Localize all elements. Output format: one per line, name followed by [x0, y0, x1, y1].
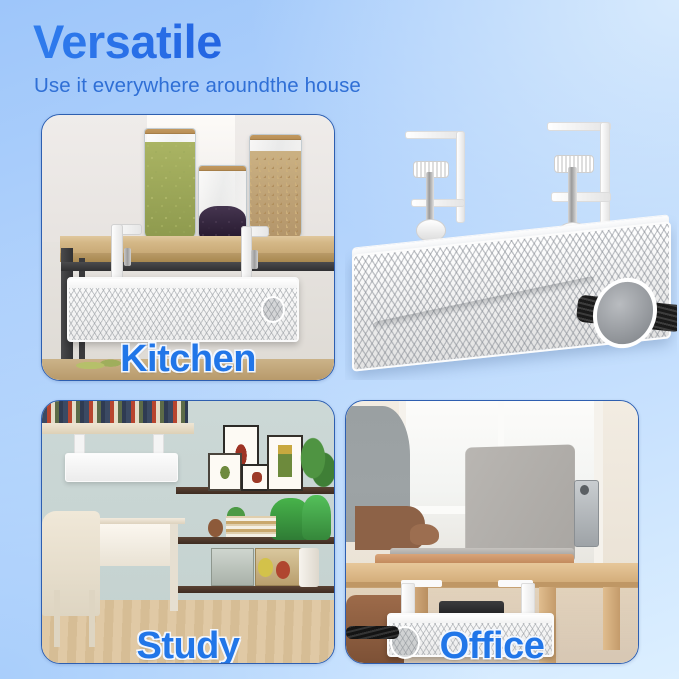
study-chair-leg-left: [54, 590, 60, 648]
study-books: [42, 401, 188, 425]
clamp-side-bar: [456, 131, 465, 223]
clamp-mid-bar: [551, 192, 610, 202]
kitchen-table-frame-rail: [61, 262, 334, 270]
kitchen-clamp-screw-left: [124, 248, 132, 267]
cable-tray-study: [65, 453, 178, 481]
page-title: Versatile: [33, 18, 633, 65]
cable-tray-kitchen: [67, 277, 299, 342]
framed-art-2: [208, 453, 241, 491]
kitchen-clamp-screw-right: [251, 250, 259, 269]
jar-lid-icon: [198, 165, 247, 171]
header: Versatile Use it everywhere aroundthe ho…: [33, 18, 633, 98]
kitchen-table-edge: [60, 253, 334, 261]
person-hand: [410, 524, 439, 545]
study-plant-3: [302, 495, 331, 540]
smartphone-stand: [574, 480, 599, 548]
jar-lid-icon: [249, 134, 302, 140]
laptop-screen: [465, 444, 575, 560]
kitchen-clamp-arm-left: [111, 224, 123, 284]
glass-jar-peas: [144, 128, 196, 239]
office-desk-leg-2: [603, 587, 621, 650]
study-top-shelf: [42, 423, 194, 433]
office-cables: [346, 626, 399, 639]
office-desk-top: [346, 563, 638, 581]
tray-rim: [389, 615, 553, 623]
jar-contents: [199, 206, 246, 239]
product-hero-scene: [345, 112, 677, 380]
study-desk-leg: [170, 524, 177, 610]
study-vase: [299, 548, 319, 587]
glass-jar-oats: [249, 134, 302, 239]
study-chair-leg-right: [89, 590, 95, 648]
jar-lid-icon: [144, 128, 196, 134]
office-scene: [346, 401, 638, 663]
tray-grommet-hole: [261, 296, 285, 323]
panel-product-hero: [345, 112, 677, 380]
kitchen-foreground-plant: [71, 354, 135, 378]
panel-office: Office: [345, 400, 639, 664]
panel-kitchen: Kitchen: [41, 114, 335, 381]
glass-jar-beans: [198, 165, 247, 240]
study-scene: [42, 401, 334, 663]
jar-contents: [250, 151, 301, 238]
poster-canvas: Versatile Use it everywhere aroundthe ho…: [0, 0, 679, 679]
clamp-mid-bar: [411, 199, 465, 207]
kitchen-table-top: [60, 236, 334, 253]
study-decor-ball-1: [258, 558, 273, 576]
tray-inner-shadow: [373, 276, 594, 331]
study-plant-1: [299, 435, 334, 493]
jar-contents: [145, 142, 195, 238]
framed-art-4: [267, 435, 303, 491]
kitchen-scene: [42, 115, 334, 380]
study-glass-box: [211, 548, 254, 587]
study-book-stack: [226, 516, 276, 537]
clamp-side-bar: [600, 122, 609, 229]
panel-study: Study: [41, 400, 335, 664]
page-subtitle: Use it everywhere aroundthe house: [34, 74, 633, 98]
tray-rim: [69, 279, 297, 289]
